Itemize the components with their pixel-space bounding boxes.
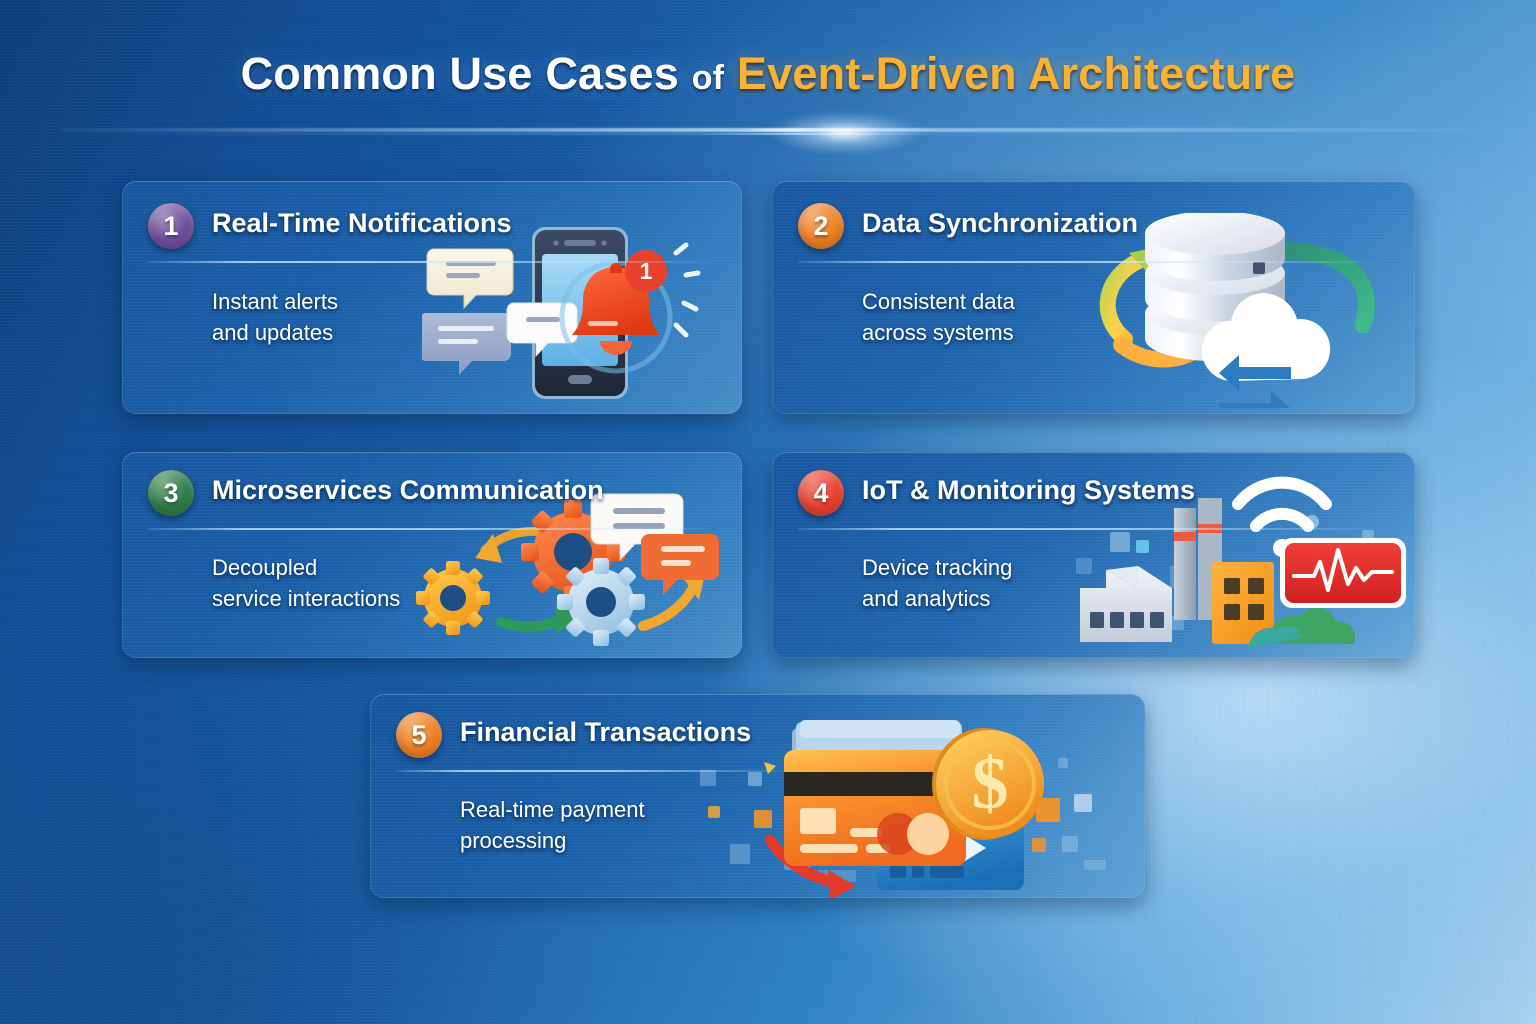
card-data-synchronization[interactable]: 2 Data Synchronization Consistent data a… [772,181,1415,414]
card-badge-5: 5 [396,712,442,758]
card-iot-monitoring-systems[interactable]: 4 IoT & Monitoring Systems Device tracki… [772,452,1415,658]
card-divider-4 [798,528,1373,530]
card-microservices-communication[interactable]: 3 Microservices Communication Decoupled … [122,452,742,658]
card-financial-transactions[interactable]: 5 Financial Transactions Real-time payme… [370,694,1145,898]
card-divider-5 [396,770,786,772]
title-of: of [692,59,725,97]
title-primary: Common Use Cases [241,48,679,99]
card-badge-3: 3 [148,470,194,516]
card-title-1: Real-Time Notifications [212,208,512,239]
card-subtitle-4: Device tracking and analytics [862,552,1012,614]
card-badge-1: 1 [148,203,194,249]
page-title: Common Use Cases of Event-Driven Archite… [0,48,1536,100]
database-cloud-sync-arrows-icon [1077,213,1407,408]
infographic-canvas: Common Use Cases of Event-Driven Archite… [0,0,1536,1024]
card-subtitle-2: Consistent data across systems [862,286,1015,348]
card-divider-2 [798,261,1373,263]
card-divider-1 [148,261,708,263]
card-badge-2: 2 [798,203,844,249]
card-badge-4: 4 [798,470,844,516]
credit-cards-dollar-coin-arrows-icon: $ [700,710,1130,898]
beam-flare-icon [770,112,920,154]
card-title-2: Data Synchronization [862,208,1138,239]
card-subtitle-5: Real-time payment processing [460,794,645,856]
smartphone-bell-chat-bubbles-icon: 1 [422,221,742,411]
title-accent: Event-Driven Architecture [737,48,1296,99]
card-title-3: Microservices Communication [212,475,604,506]
card-subtitle-1: Instant alerts and updates [212,286,338,348]
gears-chat-bubbles-arrows-icon [397,490,737,655]
card-title-5: Financial Transactions [460,717,751,748]
title-underline-beam [60,126,1476,138]
dollar-symbol: $ [972,743,1009,825]
card-real-time-notifications[interactable]: 1 Real-Time Notifications Instant alerts… [122,181,742,414]
card-divider-3 [148,528,708,530]
card-subtitle-3: Decoupled service interactions [212,552,400,614]
card-title-4: IoT & Monitoring Systems [862,475,1195,506]
